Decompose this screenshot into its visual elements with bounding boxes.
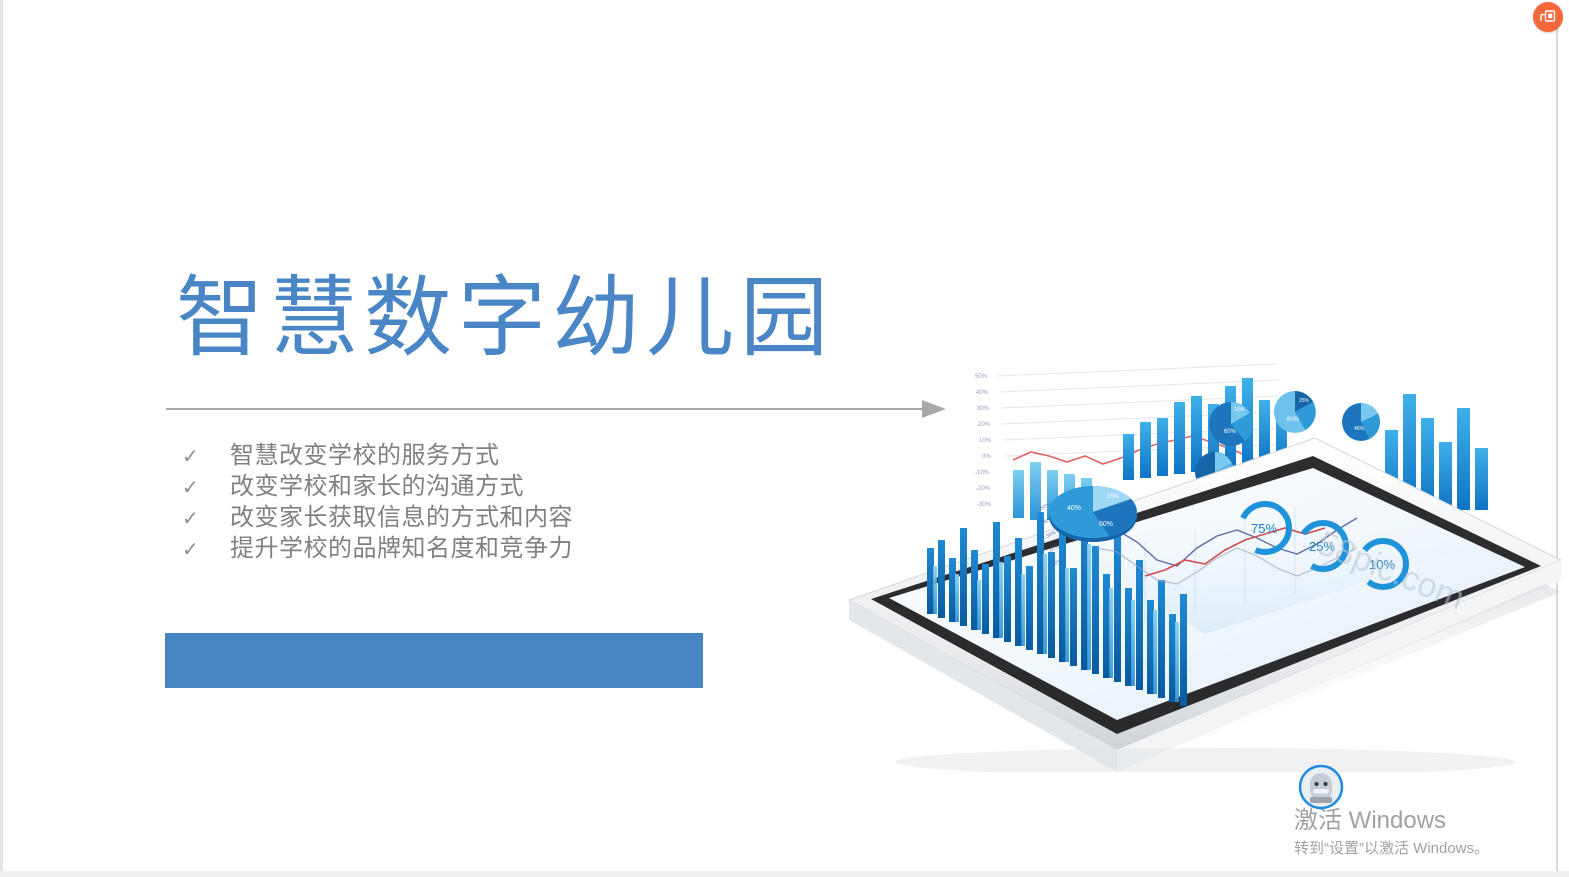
svg-text:30%: 30% xyxy=(977,406,990,412)
list-item-label: 智慧改变学校的服务方式 xyxy=(230,440,500,471)
list-item-label: 提升学校的品牌知名度和竞争力 xyxy=(230,533,573,564)
svg-text:15%: 15% xyxy=(1107,494,1120,500)
activation-title: 激活 Windows xyxy=(1294,806,1556,836)
svg-text:-30%: -30% xyxy=(977,502,992,508)
list-item: ✓ 改变学校和家长的沟通方式 xyxy=(178,471,738,502)
check-icon: ✓ xyxy=(178,473,230,504)
arrow-right-icon xyxy=(166,396,948,422)
window-edge-bottom xyxy=(0,871,1569,877)
list-item: ✓ 提升学校的品牌知名度和竞争力 xyxy=(178,533,738,564)
assistant-robot-avatar[interactable] xyxy=(1298,764,1344,810)
list-item: ✓ 智慧改变学校的服务方式 xyxy=(178,440,738,471)
svg-text:-10%: -10% xyxy=(975,470,990,476)
accent-bar xyxy=(165,633,703,688)
activation-subtitle: 转到“设置”以激活 Windows。 xyxy=(1294,838,1556,860)
check-icon: ✓ xyxy=(178,442,230,473)
svg-text:40%: 40% xyxy=(976,390,989,396)
svg-text:20%: 20% xyxy=(978,422,991,428)
page-title: 智慧数字幼儿园 xyxy=(176,264,834,372)
svg-text:50%: 50% xyxy=(975,374,988,380)
list-item-label: 改变家长获取信息的方式和内容 xyxy=(230,502,573,533)
svg-text:60%: 60% xyxy=(1287,417,1300,423)
presentation-slide: 智慧数字幼儿园 ✓ 智慧改变学校的服务方式 ✓ 改变学校和家长的沟通方式 ✓ 改… xyxy=(0,0,1569,877)
svg-text:60%: 60% xyxy=(1224,429,1237,435)
svg-text:15%: 15% xyxy=(1234,407,1245,413)
svg-text:25%: 25% xyxy=(1299,398,1310,404)
slide-convert-icon[interactable] xyxy=(1533,2,1563,32)
svg-text:40%: 40% xyxy=(1067,505,1081,512)
bullet-list: ✓ 智慧改变学校的服务方式 ✓ 改变学校和家长的沟通方式 ✓ 改变家长获取信息的… xyxy=(178,440,738,564)
list-item-label: 改变学校和家长的沟通方式 xyxy=(230,471,524,502)
tablet-analytics-illustration: 50% 40% 30% 20% 10% 0% -10% -20% -30% xyxy=(845,352,1569,772)
list-item: ✓ 改变家长获取信息的方式和内容 xyxy=(178,502,738,533)
svg-text:60%: 60% xyxy=(1099,521,1113,528)
check-icon: ✓ xyxy=(178,535,230,566)
svg-text:10%: 10% xyxy=(979,438,992,444)
check-icon: ✓ xyxy=(178,504,230,535)
svg-text:-20%: -20% xyxy=(976,486,991,492)
window-edge-left xyxy=(0,0,3,871)
svg-text:45%: 45% xyxy=(1354,426,1365,432)
windows-activation-watermark: 激活 Windows 转到“设置”以激活 Windows。 xyxy=(1294,806,1556,860)
svg-text:0%: 0% xyxy=(982,454,991,460)
svg-text:75%: 75% xyxy=(1251,521,1277,536)
